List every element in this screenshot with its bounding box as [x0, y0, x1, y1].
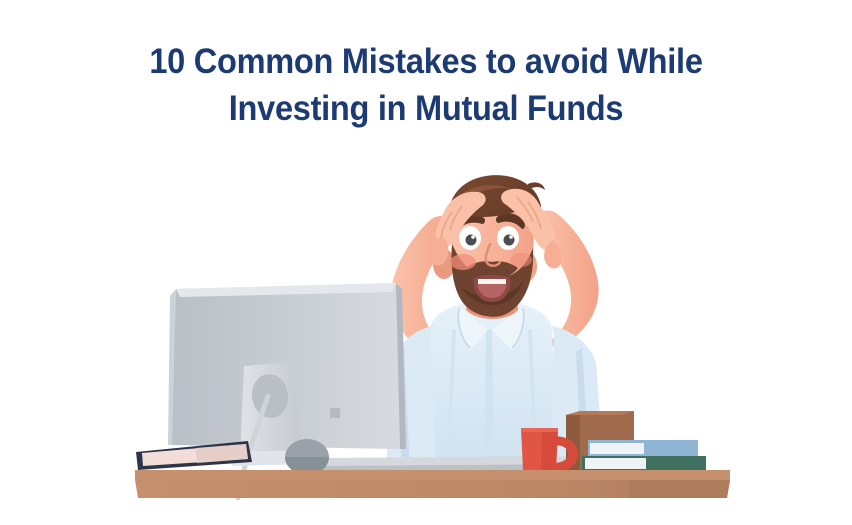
eye-left-iris	[466, 235, 477, 246]
desk-right-shade	[628, 480, 730, 498]
eye-right-iris	[504, 235, 515, 246]
mug-rim	[521, 428, 558, 432]
stacked-book-blue-pages	[590, 443, 644, 454]
page-title: 10 Common Mistakes to avoid While Invest…	[70, 38, 782, 132]
teeth-upper	[478, 279, 506, 284]
stacked-books-group	[582, 440, 706, 471]
stacked-book-green-pages	[585, 458, 646, 469]
page-title-line-2: Investing in Mutual Funds	[95, 85, 757, 132]
page-title-line-1: 10 Common Mistakes to avoid While	[95, 38, 757, 85]
monitor-logo	[330, 408, 340, 418]
cheek-blush-right	[510, 253, 532, 267]
eye-left-highlight	[471, 235, 475, 239]
mug-body-shade	[541, 428, 558, 470]
poster-canvas: 10 Common Mistakes to avoid While Invest…	[0, 0, 852, 525]
desk-group	[135, 470, 730, 498]
desk-top	[135, 470, 730, 480]
cheek-blush-left	[450, 254, 476, 270]
eye-right-highlight	[509, 235, 513, 239]
